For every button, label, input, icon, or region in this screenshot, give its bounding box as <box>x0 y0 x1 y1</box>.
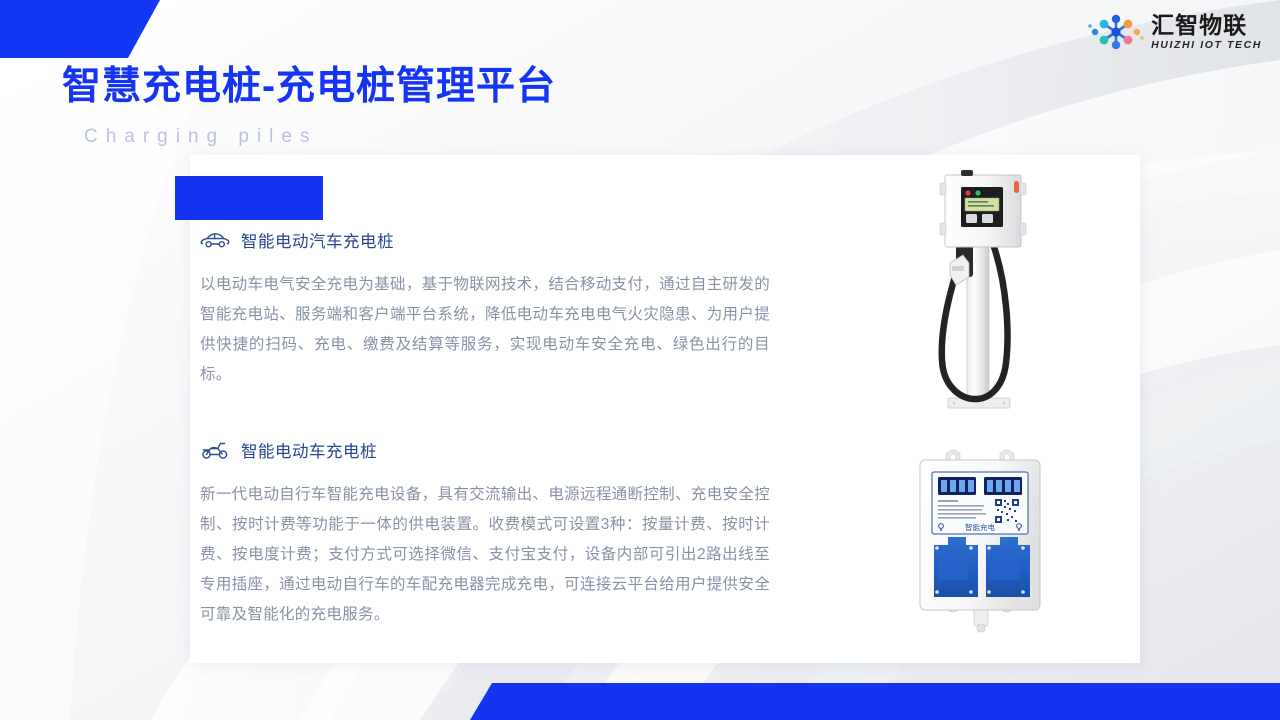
ev-charging-pile-photo <box>890 165 1090 420</box>
page-subtitle: Charging piles <box>84 126 317 148</box>
section-1-header: 智能电动汽车充电桩 <box>200 227 770 253</box>
slide-canvas: 智慧充电桩-充电桩管理平台 Charging piles 汇智物联 <box>0 0 1280 720</box>
logo-chinese-name: 汇智物联 <box>1151 14 1262 37</box>
section-ev-charging-pile: 智能电动汽车充电桩 以电动车电气安全充电为基础，基于物联网技术，结合移动支付，通… <box>200 227 770 390</box>
content-card: 智能电动汽车充电桩 以电动车电气安全充电为基础，基于物联网技术，结合移动支付，通… <box>190 155 1140 663</box>
top-left-accent-shape <box>0 0 160 58</box>
page-title: 智慧充电桩-充电桩管理平台 <box>62 66 556 109</box>
section-2-title: 智能电动车充电桩 <box>241 438 377 462</box>
bottom-accent-bar <box>470 683 1280 720</box>
molecule-network-icon <box>1087 12 1145 52</box>
car-icon <box>200 229 230 251</box>
card-title-tab <box>175 176 323 220</box>
scooter-icon <box>200 439 230 461</box>
company-logo: 汇智物联 HUIZHI IOT TECH <box>1087 12 1262 52</box>
section-2-body: 新一代电动自行车智能充电设备，具有交流输出、电源远程通断控制、充电安全控制、按时… <box>200 480 770 630</box>
section-2-header: 智能电动车充电桩 <box>200 437 770 463</box>
ebike-charging-box-photo: 智能充电 <box>890 440 1090 645</box>
section-1-title: 智能电动汽车充电桩 <box>241 228 394 252</box>
ebike-box-brand-text: 智能充电 <box>965 522 995 532</box>
section-ebike-charging-pile: 智能电动车充电桩 新一代电动自行车智能充电设备，具有交流输出、电源远程通断控制、… <box>200 437 770 630</box>
logo-english-name: HUIZHI IOT TECH <box>1151 40 1262 51</box>
section-1-body: 以电动车电气安全充电为基础，基于物联网技术，结合移动支付，通过自主研发的智能充电… <box>200 270 770 390</box>
